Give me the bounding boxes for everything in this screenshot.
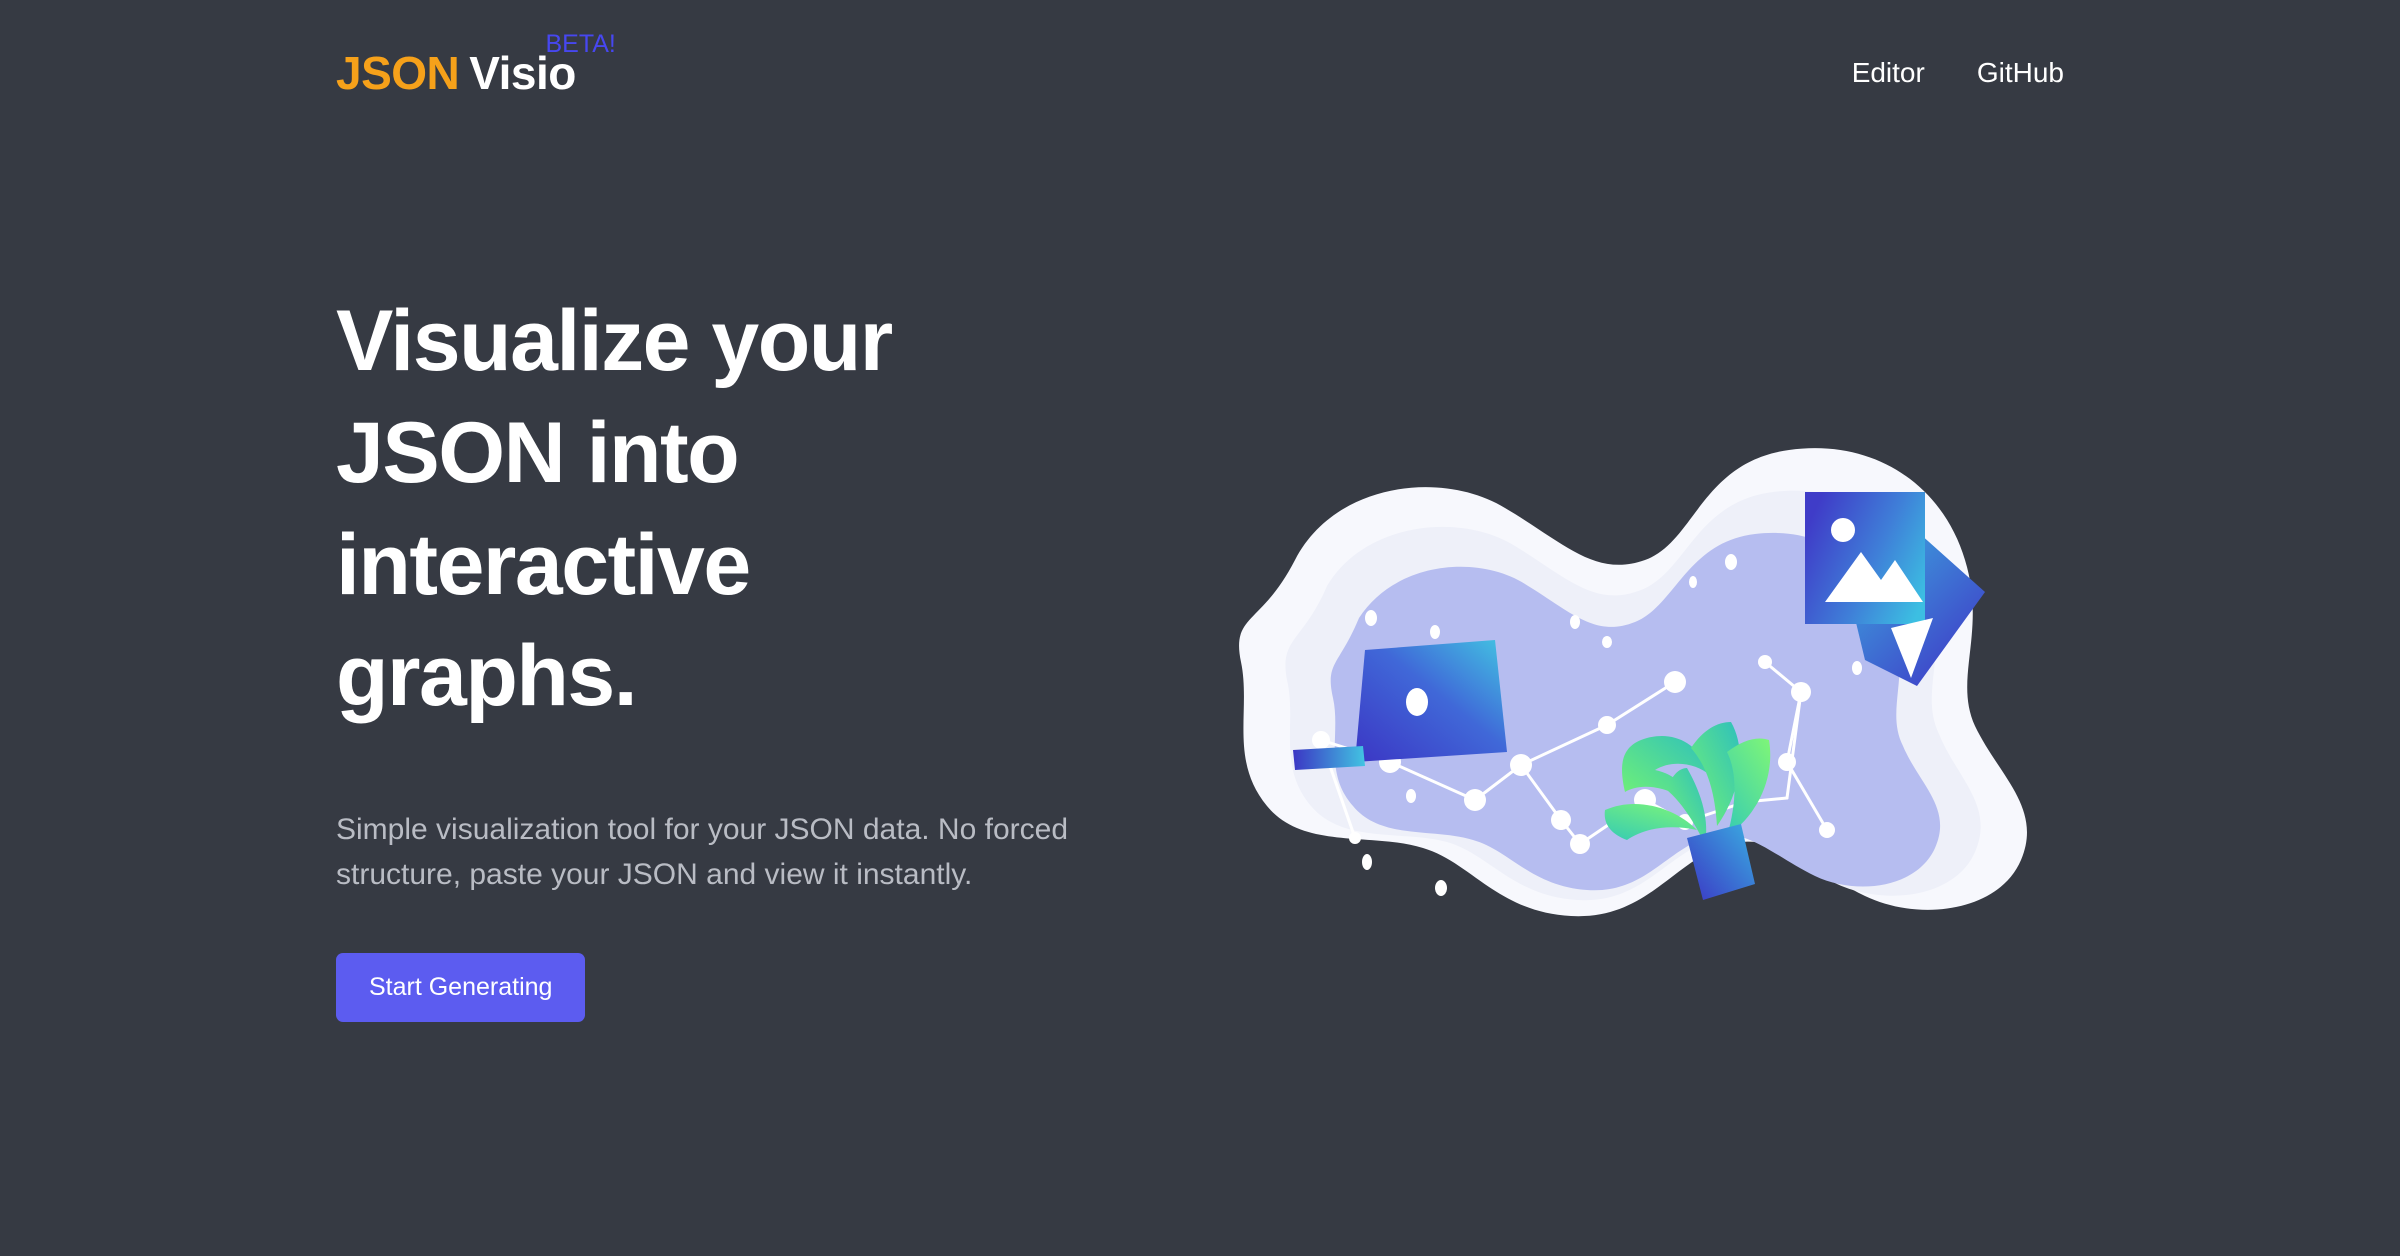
brand-name-primary: JSON — [336, 47, 459, 99]
main-nav: Editor GitHub — [1852, 57, 2064, 89]
nav-link-editor[interactable]: Editor — [1852, 57, 1925, 89]
brand-logo[interactable]: JSONVisio BETA! — [336, 50, 576, 96]
hero-subtitle: Simple visualization tool for your JSON … — [336, 807, 1096, 897]
beta-badge: BETA! — [545, 32, 615, 57]
landing-page: JSONVisio BETA! Editor GitHub Visualize … — [0, 0, 2400, 1256]
page-title: Visualize your JSON into interactive gra… — [336, 286, 1016, 733]
hero-section: Visualize your JSON into interactive gra… — [336, 286, 1096, 1022]
nav-link-github[interactable]: GitHub — [1977, 57, 2064, 89]
site-header: JSONVisio BETA! Editor GitHub — [0, 0, 2400, 145]
hero-illustration — [1175, 410, 2075, 930]
start-generating-button[interactable]: Start Generating — [336, 953, 585, 1022]
